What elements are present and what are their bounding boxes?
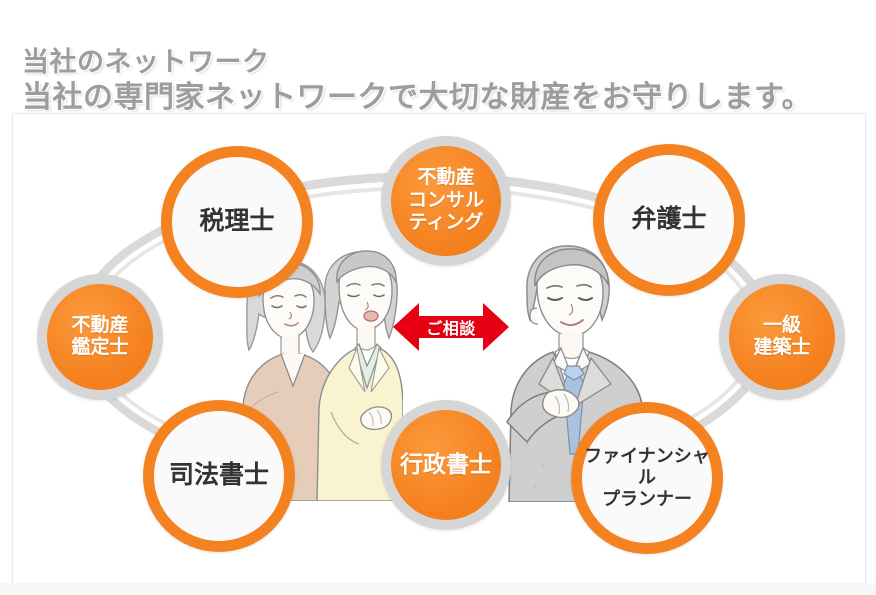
node-financial-planner-line-1: ファイナンシャル (582, 446, 712, 488)
node-real-estate-consulting-line-2: コンサル (408, 190, 484, 212)
node-real-estate-appraiser-text: 不動産 鑑定士 (71, 315, 128, 360)
node-shihoshoshi-line-1: 司法書士 (169, 461, 269, 491)
node-real-estate-appraiser-line-2: 鑑定士 (71, 337, 128, 359)
node-first-class-architect-line-2: 建築士 (753, 337, 810, 359)
page-title-line-2: 当社の専門家ネットワークで大切な財産をお守りします。 (22, 72, 812, 116)
node-zeirishi-line-1: 税理士 (199, 207, 274, 237)
node-zeirishi[interactable]: 税理士 (161, 146, 313, 298)
node-bengoshi-line-1: 弁護士 (631, 205, 706, 235)
node-bengoshi[interactable]: 弁護士 (593, 144, 745, 296)
node-gyoseishoshi-text: 行政書士 (400, 451, 492, 478)
node-first-class-architect[interactable]: 一級 建築士 (719, 274, 845, 400)
node-financial-planner-line-2: プランナー (582, 489, 712, 510)
page-header: 当社のネットワーク 当社の専門家ネットワークで大切な財産をお守りします。 (0, 0, 876, 113)
node-bengoshi-text: 弁護士 (631, 205, 706, 235)
node-real-estate-consulting-line-3: ティング (408, 212, 484, 234)
node-real-estate-appraiser[interactable]: 不動産 鑑定士 (37, 274, 163, 400)
node-first-class-architect-line-1: 一級 (753, 315, 810, 337)
node-gyoseishoshi[interactable]: 行政書士 (381, 400, 511, 530)
node-first-class-architect-text: 一級 建築士 (753, 315, 810, 360)
node-real-estate-consulting-line-1: 不動産 (408, 167, 484, 189)
node-shihoshoshi-text: 司法書士 (169, 461, 269, 491)
page-footer-strip (0, 583, 876, 595)
node-zeirishi-text: 税理士 (199, 207, 274, 237)
double-headed-arrow-icon (393, 299, 509, 355)
node-real-estate-consulting[interactable]: 不動産 コンサル ティング (381, 136, 511, 266)
node-gyoseishoshi-line-1: 行政書士 (400, 451, 492, 478)
consultation-arrow-badge: ご相談 (393, 299, 509, 355)
node-financial-planner[interactable]: ファイナンシャル プランナー (571, 402, 723, 554)
node-real-estate-consulting-text: 不動産 コンサル ティング (408, 167, 484, 234)
network-diagram-page: 当社のネットワーク 当社の専門家ネットワークで大切な財産をお守りします。 (0, 0, 876, 595)
node-financial-planner-text: ファイナンシャル プランナー (582, 446, 712, 510)
diagram-panel: ご相談 税理士 不動産 コンサル ティング 弁護士 (12, 113, 866, 585)
node-shihoshoshi[interactable]: 司法書士 (143, 400, 295, 552)
node-real-estate-appraiser-line-1: 不動産 (71, 315, 128, 337)
